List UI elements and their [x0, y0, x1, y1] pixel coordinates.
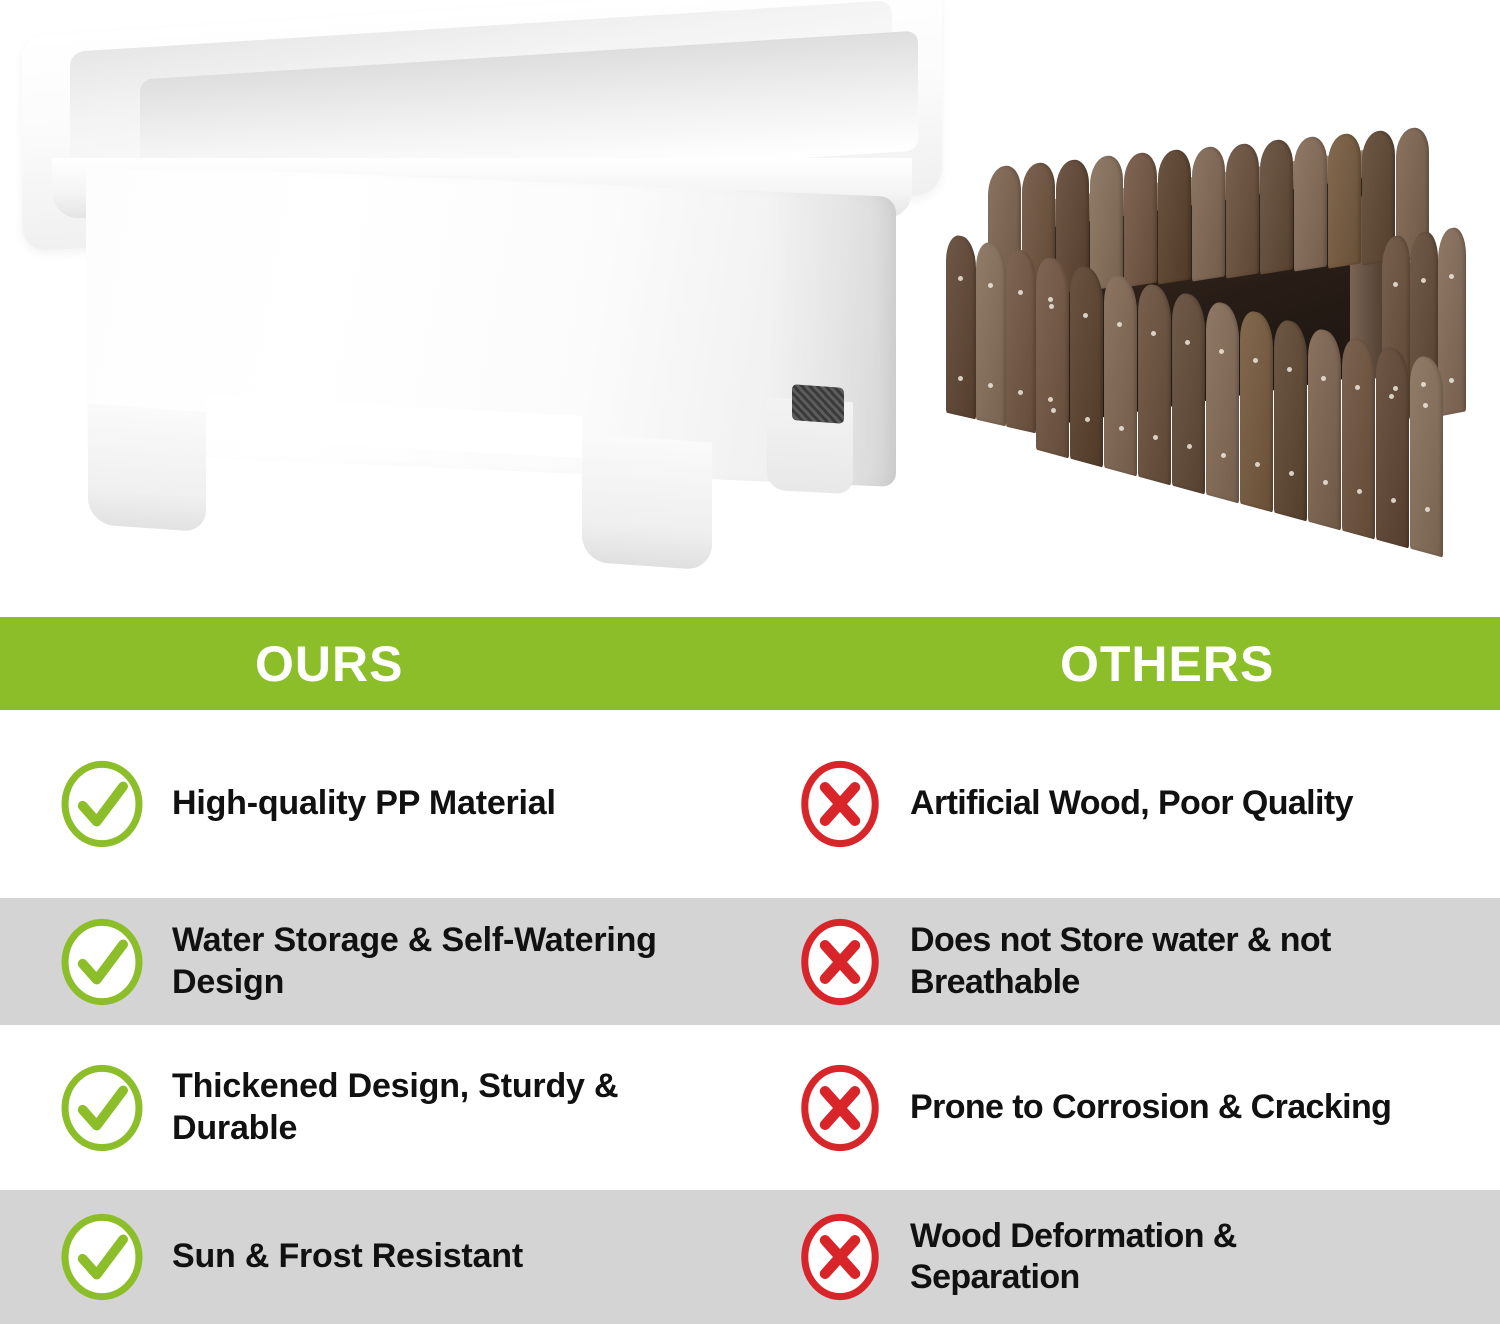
comparison-header-bar: OURS OTHERS	[0, 617, 1500, 710]
feature-label-ours: Sun & Frost Resistant	[172, 1236, 523, 1277]
wooden-nail-head	[1425, 507, 1430, 512]
wooden-nail-head	[1393, 386, 1398, 391]
feature-label-others: Prone to Corrosion & Cracking	[910, 1087, 1391, 1128]
wooden-nail-head	[1289, 471, 1294, 476]
wooden-nail-head	[1421, 382, 1426, 387]
wooden-picket	[1274, 317, 1307, 522]
row-cell-ours: High-quality PP Material	[0, 710, 760, 898]
wooden-nail-head	[988, 383, 993, 388]
cross-circle-icon	[796, 1064, 884, 1152]
wooden-picket	[1226, 141, 1259, 278]
row-cell-others: Artificial Wood, Poor Quality	[760, 710, 1500, 898]
row-cell-ours: Thickened Design, Sturdy & Durable	[0, 1025, 760, 1190]
check-circle-icon	[58, 918, 146, 1006]
header-cell-others: OTHERS	[760, 617, 1500, 710]
wooden-nail-head	[1389, 394, 1394, 399]
wooden-nail-head	[1219, 349, 1224, 354]
wooden-nail-head	[1083, 313, 1088, 318]
wooden-nail-head	[1187, 444, 1192, 449]
others-title: OTHERS	[1060, 639, 1274, 689]
header-cell-ours: OURS	[0, 617, 760, 710]
wooden-nail-head	[1153, 435, 1158, 440]
wooden-nail-head	[1051, 408, 1056, 413]
wooden-picket	[1090, 154, 1123, 291]
feature-label-others: Does not Store water & not Breathable	[910, 920, 1430, 1003]
wooden-nail-head	[1393, 282, 1398, 287]
wooden-picket	[1138, 281, 1171, 486]
comparison-rows: High-quality PP Material Artificial Wood…	[0, 710, 1500, 1324]
row-cell-ours: Sun & Frost Resistant	[0, 1190, 760, 1324]
row-cell-others: Wood Deformation & Separation	[760, 1190, 1500, 1324]
wooden-picket	[946, 233, 976, 420]
wooden-nail-head	[958, 276, 963, 281]
wooden-nail-head	[1048, 397, 1053, 402]
wooden-nail-head	[1449, 378, 1454, 383]
check-circle-icon	[58, 760, 146, 848]
feature-label-others: Artificial Wood, Poor Quality	[910, 783, 1353, 824]
row-cell-others: Does not Store water & not Breathable	[760, 898, 1500, 1025]
wooden-picket	[1158, 147, 1191, 284]
wooden-nail-head	[1323, 480, 1328, 485]
planter-right-leg	[582, 433, 712, 570]
feature-label-ours: Water Storage & Self-Watering Design	[172, 920, 760, 1003]
feature-label-others: Wood Deformation & Separation	[910, 1216, 1350, 1299]
wooden-picket	[1192, 144, 1225, 281]
wooden-picket	[1294, 135, 1327, 272]
planter-left-leg	[88, 404, 206, 532]
wooden-nail-head	[958, 376, 963, 381]
row-cell-others: Prone to Corrosion & Cracking	[760, 1025, 1500, 1190]
wooden-nail-head	[1048, 297, 1053, 302]
white-plastic-planter-image	[22, 8, 942, 548]
wooden-picket	[1036, 254, 1069, 459]
wooden-picket	[1240, 308, 1273, 513]
comparison-row: Water Storage & Self-Watering Design Doe…	[0, 898, 1500, 1025]
wooden-picket	[1124, 151, 1157, 288]
wooden-nail-head	[1221, 453, 1226, 458]
wooden-nail-head	[1355, 385, 1360, 390]
wooden-picket	[1172, 290, 1205, 495]
check-circle-icon	[58, 1213, 146, 1301]
wooden-nail-head	[1185, 340, 1190, 345]
feature-label-ours: Thickened Design, Sturdy & Durable	[172, 1066, 732, 1149]
wooden-picket	[1206, 299, 1239, 504]
wooden-picket	[1104, 272, 1137, 477]
wooden-nail-head	[1255, 462, 1260, 467]
comparison-row: Sun & Frost Resistant Wood Deformation &…	[0, 1190, 1500, 1324]
wooden-nail-head	[1049, 304, 1054, 309]
wooden-nail-head	[1085, 417, 1090, 422]
cross-circle-icon	[796, 918, 884, 1006]
feature-label-ours: High-quality PP Material	[172, 783, 556, 824]
wooden-nail-head	[1391, 498, 1396, 503]
wooden-picket	[1070, 263, 1103, 468]
wooden-nail-head	[1253, 358, 1258, 363]
row-cell-ours: Water Storage & Self-Watering Design	[0, 898, 760, 1025]
comparison-infographic: OURS OTHERS High-quality PP Material	[0, 0, 1500, 1324]
wooden-nail-head	[1321, 376, 1326, 381]
wooden-picket	[1308, 326, 1341, 531]
wooden-nail-head	[1117, 322, 1122, 327]
wooden-nail-head	[1018, 390, 1023, 395]
comparison-row: High-quality PP Material Artificial Wood…	[0, 710, 1500, 898]
wooden-planter-image	[918, 118, 1478, 588]
wooden-nail-head	[1151, 331, 1156, 336]
wooden-nail-head	[1287, 367, 1292, 372]
wooden-nail-head	[1449, 274, 1454, 279]
wooden-picket	[1260, 138, 1293, 275]
cross-circle-icon	[796, 760, 884, 848]
product-photo-area	[0, 0, 1500, 617]
wooden-nail-head	[1421, 278, 1426, 283]
ours-title: OURS	[255, 639, 403, 689]
check-circle-icon	[58, 1064, 146, 1152]
wooden-nail-head	[1357, 489, 1362, 494]
wooden-picket	[1342, 335, 1375, 540]
comparison-row: Thickened Design, Sturdy & Durable Prone…	[0, 1025, 1500, 1190]
wooden-picket	[1410, 353, 1443, 558]
wooden-nail-head	[1423, 403, 1428, 408]
wooden-nail-head	[1018, 290, 1023, 295]
planter-drainage-vent-icon	[792, 384, 844, 424]
cross-circle-icon	[796, 1213, 884, 1301]
wooden-picket	[976, 240, 1006, 427]
wooden-nail-head	[988, 283, 993, 288]
wooden-nail-head	[1119, 426, 1124, 431]
wooden-picket	[1006, 247, 1036, 434]
wooden-picket	[1376, 344, 1409, 549]
wooden-picket	[1328, 131, 1361, 268]
